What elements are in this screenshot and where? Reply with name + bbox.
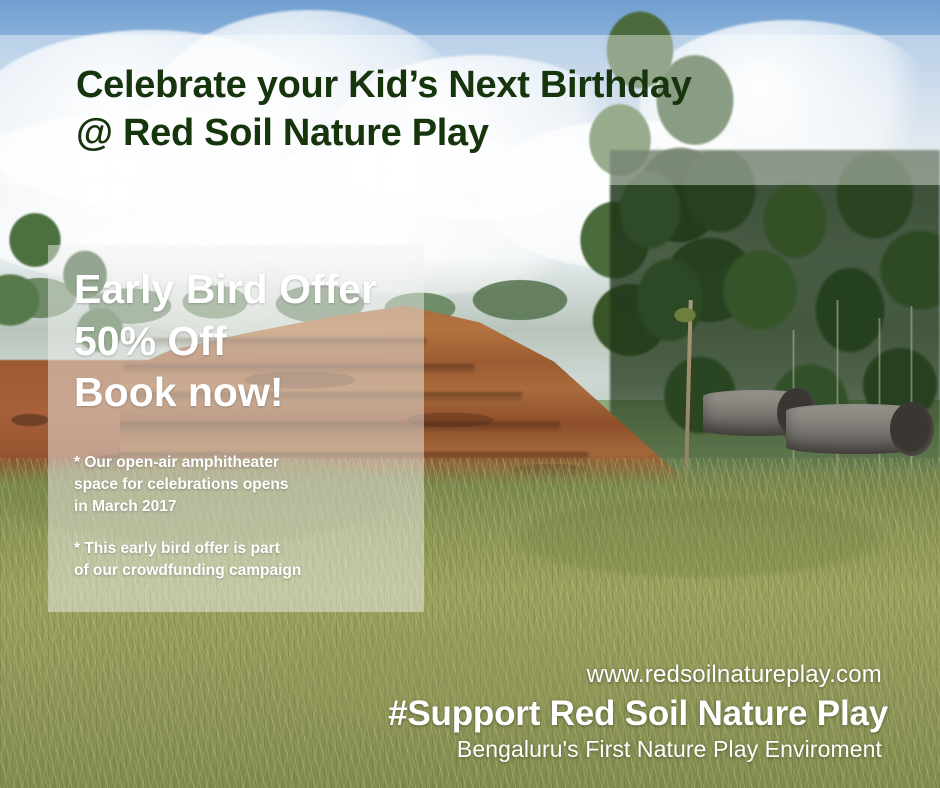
concrete-pipe <box>786 404 926 454</box>
headline-line-2: @ Red Soil Nature Play <box>76 110 836 158</box>
pipe-opening <box>890 402 934 456</box>
offer-heading: Early Bird Offer 50% Off Book now! <box>74 264 424 419</box>
offer-line-3: Book now! <box>74 367 424 419</box>
offer-line-1: Early Bird Offer <box>74 264 424 316</box>
campaign-hashtag: #Support Red Soil Nature Play <box>388 694 888 734</box>
sapling-leaves <box>672 306 698 324</box>
brand-tagline: Bengaluru's First Nature Play Enviroment <box>457 736 882 763</box>
fineprint-1-line-1: * Our open-air amphitheater <box>74 452 374 474</box>
offer-line-2: 50% Off <box>74 316 424 368</box>
promo-poster: Celebrate your Kid’s Next Birthday @ Red… <box>0 0 940 788</box>
fineprint-1-line-2: space for celebrations opens <box>74 474 374 496</box>
headline-line-1: Celebrate your Kid’s Next Birthday <box>76 64 692 106</box>
page-title: Celebrate your Kid’s Next Birthday @ Red… <box>76 62 836 158</box>
fineprint-block-1: * Our open-air amphitheater space for ce… <box>74 452 374 518</box>
fineprint-2-line-2: of our crowdfunding campaign <box>74 560 374 582</box>
fineprint-2-line-1: * This early bird offer is part <box>74 538 374 560</box>
fineprint-1-line-3: in March 2017 <box>74 496 374 518</box>
website-url[interactable]: www.redsoilnatureplay.com <box>587 661 882 689</box>
fineprint-block-2: * This early bird offer is part of our c… <box>74 538 374 582</box>
